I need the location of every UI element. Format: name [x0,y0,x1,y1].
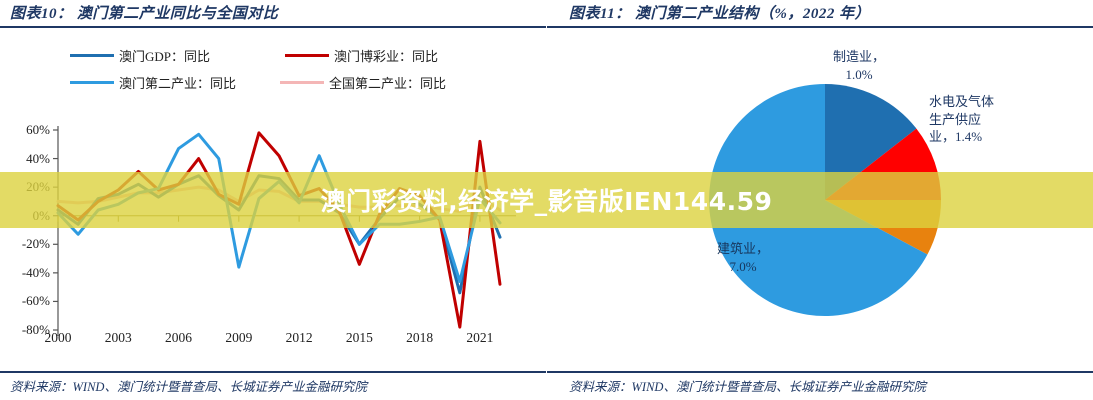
legend-item-national-secondary: 全国第二产业：同比 [280,73,446,92]
x-axis-label: 2021 [466,330,493,346]
left-source-note: 资料来源：WIND、澳门统计暨普查局、长城证券产业金融研究院 [10,376,367,395]
legend-item-macau-secondary: 澳门第二产业：同比 [70,73,280,92]
legend-label-national-secondary: 全国第二产业：同比 [329,73,446,92]
legend-swatch-macau-gaming [285,54,329,58]
legend-label-macau-gaming: 澳门博彩业：同比 [334,46,438,65]
left-title-divider [0,26,546,28]
left-chart-legend: 澳门GDP：同比 澳门博彩业：同比 澳门第二产业：同比 全国第二产业：同比 [70,46,500,100]
right-source-divider [547,371,1093,373]
right-figure-title: 图表11： 澳门第二产业结构（%，2022 年） [569,2,870,23]
x-axis-label: 2012 [286,330,313,346]
y-axis-label: -80% [4,322,50,338]
x-axis-label: 2000 [45,330,72,346]
legend-swatch-national-secondary [280,81,324,85]
y-axis-label: -60% [4,293,50,309]
x-axis-label: 2009 [225,330,252,346]
y-axis-label: -20% [4,236,50,252]
legend-item-macau-gaming: 澳门博彩业：同比 [285,46,438,65]
line-chart-plot-area [0,110,546,360]
left-source-divider [0,371,546,373]
y-axis-label: 60% [4,122,50,138]
y-axis-label: 40% [4,151,50,167]
watermark-text: 澳门彩资料,经济学_影音版IEN144.59 [0,172,1093,228]
right-source-note: 资料来源：WIND、澳门统计暨普查局、长城证券产业金融研究院 [569,376,926,395]
x-axis-label: 2018 [406,330,433,346]
y-axis-label: -40% [4,265,50,281]
legend-label-macau-secondary: 澳门第二产业：同比 [119,73,236,92]
legend-label-macau-gdp: 澳门GDP：同比 [119,46,210,65]
legend-item-macau-gdp: 澳门GDP：同比 [70,46,285,65]
x-axis-label: 2003 [105,330,132,346]
legend-swatch-macau-gdp [70,54,114,58]
line-chart-svg [0,110,546,360]
left-figure-title: 图表10： 澳门第二产业同比与全国对比 [10,2,278,23]
pie-label-manufacturing: 制造业， 1.0% [833,48,885,83]
pie-label-construction: 建筑业， 7.0% [717,240,769,275]
legend-swatch-macau-secondary [70,81,114,85]
x-axis-label: 2006 [165,330,192,346]
pie-label-utilities: 水电及气体 生产供应 业，1.4% [929,93,994,146]
x-axis-label: 2015 [346,330,373,346]
